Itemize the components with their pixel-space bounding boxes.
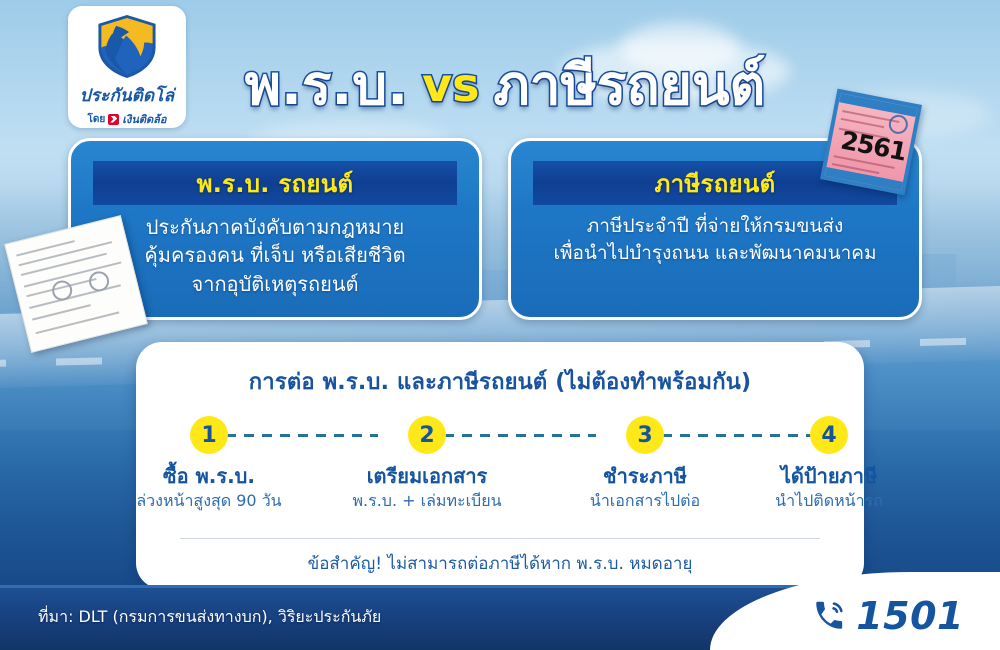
process-track: 1 2 3 4 <box>160 416 840 454</box>
step-number-badge: 3 <box>626 416 664 454</box>
hotline-number: 1501 <box>856 594 964 638</box>
card-prb-line: ประกันภาคบังคับตามกฎหมาย <box>85 213 465 241</box>
step-number-badge: 4 <box>810 416 848 454</box>
brand-subline: โดย เงินติดล้อ <box>87 110 166 128</box>
page-title: พ.ร.บ. vs ภาษีรถยนต์ <box>195 50 815 120</box>
step-title: เตรียมเอกสาร <box>337 464 517 489</box>
card-tax-title: ภาษีรถยนต์ <box>655 164 776 203</box>
step-subtitle: นำเอกสารไปต่อ <box>555 491 735 512</box>
step-subtitle: พ.ร.บ. + เล่มทะเบียน <box>337 491 517 512</box>
title-vs: vs <box>422 62 479 108</box>
source-credit: ที่มา: DLT (กรมการขนส่งทางบก), วิริยะประ… <box>38 605 381 630</box>
step-item: ซื้อ พ.ร.บ. ล่วงหน้าสูงสุด 90 วัน <box>119 464 299 512</box>
step-connector-dashed <box>444 434 596 437</box>
step-title: ซื้อ พ.ร.บ. <box>119 464 299 489</box>
ngerntidlor-mark-icon <box>108 114 119 125</box>
brand-logo: ประกันติดโล่ โดย เงินติดล้อ <box>68 6 186 128</box>
panel-divider <box>180 538 820 539</box>
card-tax-body: ภาษีประจำปี ที่จ่ายให้กรมขนส่ง เพื่อนำไป… <box>525 213 905 267</box>
step-item: ชำระภาษี นำเอกสารไปต่อ <box>555 464 735 512</box>
brand-parent-name: เงินติดล้อ <box>122 110 166 128</box>
step-item: ได้ป้ายภาษี นำไปติดหน้ารถ <box>739 464 919 512</box>
card-prb-title: พ.ร.บ. รถยนต์ <box>197 164 354 203</box>
step-number-badge: 2 <box>408 416 446 454</box>
card-prb-line: คุ้มครองคน ที่เจ็บ หรือเสียชีวิต <box>85 241 465 269</box>
brand-by-label: โดย <box>87 112 105 127</box>
card-tax-line: เพื่อนำไปบำรุงถนน และพัฒนาคมนาคม <box>525 240 905 267</box>
card-tax-line: ภาษีประจำปี ที่จ่ายให้กรมขนส่ง <box>525 213 905 240</box>
title-left-term: พ.ร.บ. <box>245 58 408 113</box>
step-title: ชำระภาษี <box>555 464 735 489</box>
card-prb-body: ประกันภาคบังคับตามกฎหมาย คุ้มครองคน ที่เ… <box>85 213 465 298</box>
process-panel-title: การต่อ พ.ร.บ. และภาษีรถยนต์ (ไม่ต้องทำพร… <box>136 364 864 399</box>
step-subtitle: นำไปติดหน้ารถ <box>739 491 919 512</box>
step-number-badge: 1 <box>190 416 228 454</box>
brand-name: ประกันติดโล่ <box>80 82 174 109</box>
tax-sticker-icon: 2561 <box>820 89 922 196</box>
process-steps: 1 2 3 4 ซื้อ พ.ร.บ. ล่วงหน้าสูงสุด 90 วั… <box>160 416 840 526</box>
important-note: ข้อสำคัญ! ไม่สามารถต่อภาษีได้หาก พ.ร.บ. … <box>136 550 864 577</box>
phone-call-icon <box>812 599 846 633</box>
process-panel: การต่อ พ.ร.บ. และภาษีรถยนต์ (ไม่ต้องทำพร… <box>136 342 864 589</box>
step-title: ได้ป้ายภาษี <box>739 464 919 489</box>
card-prb-header: พ.ร.บ. รถยนต์ <box>93 161 457 205</box>
step-item: เตรียมเอกสาร พ.ร.บ. + เล่มทะเบียน <box>337 464 517 512</box>
hotline[interactable]: 1501 <box>812 594 964 638</box>
card-prb-line: จากอุบัติเหตุรถยนต์ <box>85 270 465 298</box>
step-subtitle: ล่วงหน้าสูงสุด 90 วัน <box>119 491 299 512</box>
title-right-term: ภาษีรถยนต์ <box>493 58 765 113</box>
infographic-canvas: ประกันติดโล่ โดย เงินติดล้อ พ.ร.บ. vs ภา… <box>0 0 1000 650</box>
shield-logo-icon <box>96 14 158 79</box>
step-connector-dashed <box>662 434 814 437</box>
step-connector-dashed <box>226 434 378 437</box>
